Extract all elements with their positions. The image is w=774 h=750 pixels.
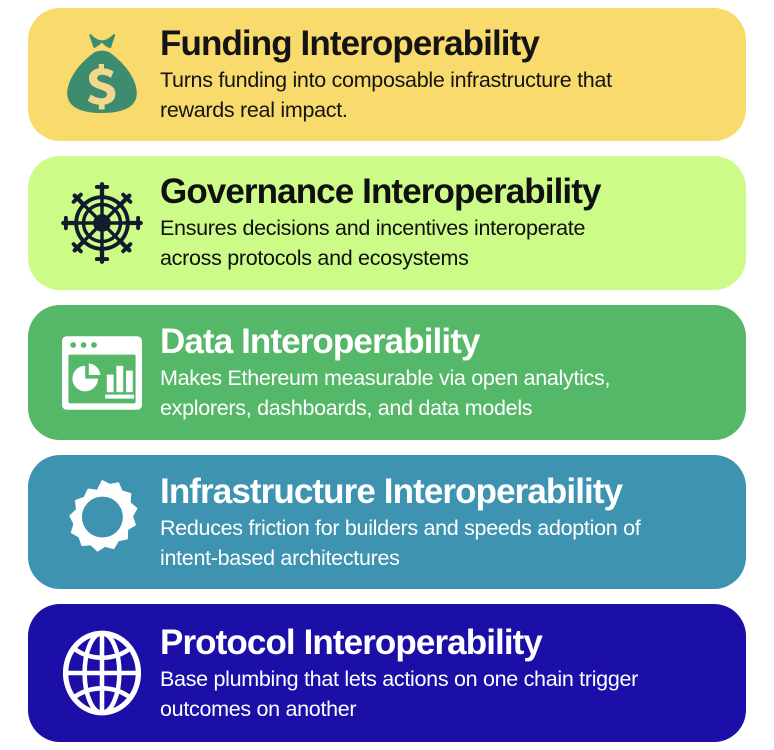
card-infrastructure-body: Infrastructure Interoperability Reduces … <box>154 472 726 573</box>
globe-icon <box>50 621 154 725</box>
card-data-title: Data Interoperability <box>160 322 722 362</box>
desc-line: Reduces friction for builders and speeds… <box>160 513 722 543</box>
desc-line: intent-based architectures <box>160 543 722 573</box>
card-funding[interactable]: Funding Interoperability Turns funding i… <box>28 8 746 141</box>
desc-line: explorers, dashboards, and data models <box>160 393 722 423</box>
card-protocol-title: Protocol Interoperability <box>160 623 722 663</box>
card-data-desc: Makes Ethereum measurable via open analy… <box>160 363 722 423</box>
card-funding-desc: Turns funding into composable infrastruc… <box>160 65 722 125</box>
desc-line: rewards real impact. <box>160 95 722 125</box>
analytics-window-icon <box>50 321 154 425</box>
card-infrastructure[interactable]: Infrastructure Interoperability Reduces … <box>28 455 746 590</box>
card-protocol[interactable]: Protocol Interoperability Base plumbing … <box>28 604 746 742</box>
desc-line: across protocols and ecosystems <box>160 243 722 273</box>
desc-line: outcomes on another <box>160 694 722 724</box>
card-protocol-desc: Base plumbing that lets actions on one c… <box>160 664 722 724</box>
card-funding-body: Funding Interoperability Turns funding i… <box>154 24 726 125</box>
card-governance-body: Governance Interoperability Ensures deci… <box>154 172 726 273</box>
card-governance-desc: Ensures decisions and incentives interop… <box>160 213 722 273</box>
desc-line: Ensures decisions and incentives interop… <box>160 213 722 243</box>
card-protocol-body: Protocol Interoperability Base plumbing … <box>154 623 726 724</box>
interoperability-card-stack: Funding Interoperability Turns funding i… <box>0 0 774 750</box>
ships-wheel-icon <box>50 171 154 275</box>
card-funding-title: Funding Interoperability <box>160 24 722 64</box>
desc-line: Makes Ethereum measurable via open analy… <box>160 363 722 393</box>
money-bag-icon <box>50 22 154 126</box>
card-infrastructure-title: Infrastructure Interoperability <box>160 472 722 512</box>
card-data-body: Data Interoperability Makes Ethereum mea… <box>154 322 726 423</box>
card-governance[interactable]: Governance Interoperability Ensures deci… <box>28 156 746 291</box>
desc-line: Turns funding into composable infrastruc… <box>160 65 722 95</box>
gear-icon <box>50 470 154 574</box>
card-infrastructure-desc: Reduces friction for builders and speeds… <box>160 513 722 573</box>
card-governance-title: Governance Interoperability <box>160 172 722 212</box>
card-data[interactable]: Data Interoperability Makes Ethereum mea… <box>28 305 746 440</box>
desc-line: Base plumbing that lets actions on one c… <box>160 664 722 694</box>
